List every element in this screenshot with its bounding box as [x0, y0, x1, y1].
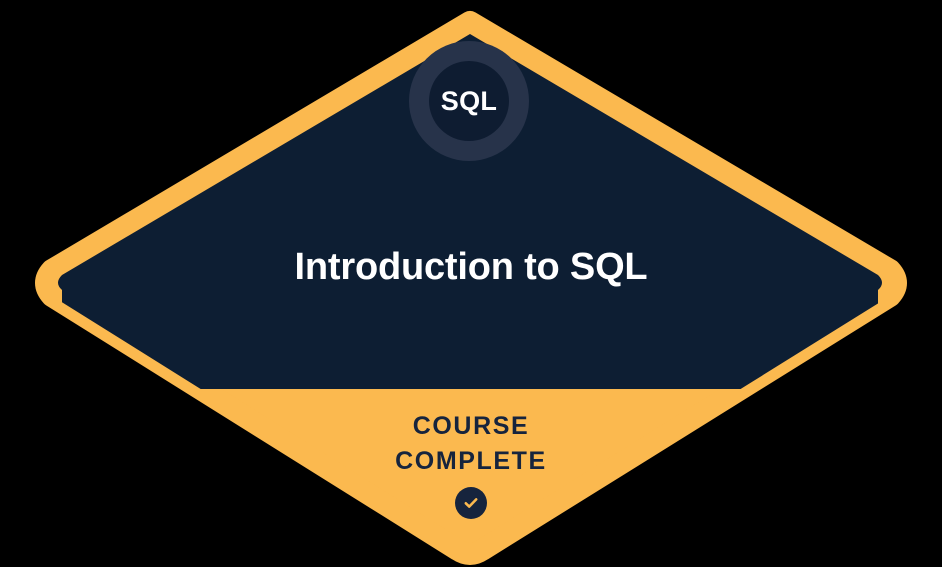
check-badge-wrapper — [0, 487, 942, 519]
check-mark-icon — [462, 494, 480, 512]
check-circle-icon — [455, 487, 487, 519]
course-status: COURSE COMPLETE — [0, 409, 942, 519]
course-complete-card[interactable]: SQL Introduction to SQL COURSE COMPLETE — [0, 0, 942, 567]
status-line-complete: COMPLETE — [0, 444, 942, 479]
status-line-course: COURSE — [0, 409, 942, 444]
sql-badge: SQL — [409, 41, 529, 161]
course-title: Introduction to SQL — [0, 246, 942, 290]
sql-badge-inner: SQL — [429, 61, 509, 141]
sql-badge-label: SQL — [441, 88, 497, 115]
